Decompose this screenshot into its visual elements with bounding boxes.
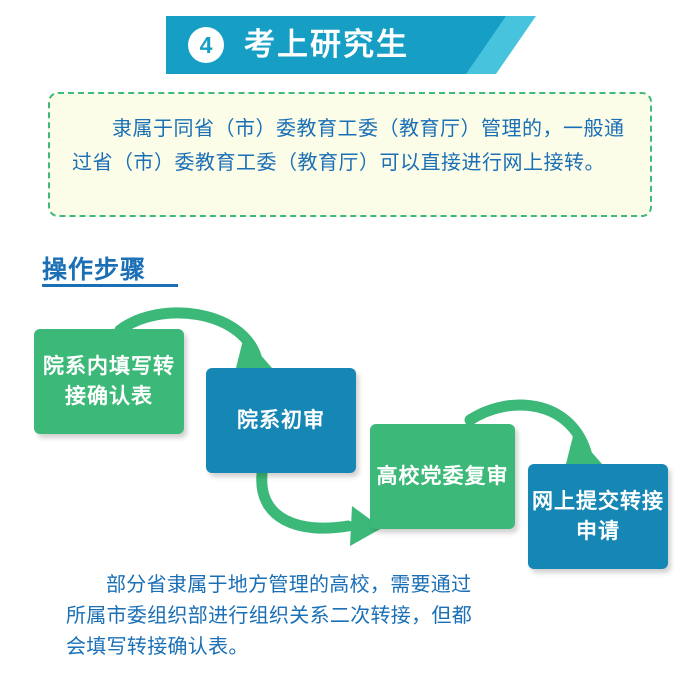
note-text: 隶属于同省（市）委教育工委（教育厅）管理的，一般通过省（市）委教育工委（教育厅）… [72,112,632,180]
flow-step-2[interactable]: 院系初审 [206,368,356,473]
section-title-underline [42,284,178,287]
flow-step-4[interactable]: 网上提交转接申请 [528,464,668,569]
page-title: 考上研究生 [244,25,409,65]
section-header-banner: 4 考上研究生 [166,16,536,74]
flow-step-1[interactable]: 院系内填写转接确认表 [34,329,184,434]
section-title: 操作步骤 [42,250,146,286]
section-number-badge: 4 [188,27,224,63]
infographic-page: 4 考上研究生 隶属于同省（市）委教育工委（教育厅）管理的，一般通过省（市）委教… [0,0,700,680]
note-box: 隶属于同省（市）委教育工委（教育厅）管理的，一般通过省（市）委教育工委（教育厅）… [48,92,652,217]
flow-step-3[interactable]: 高校党委复审 [370,424,515,529]
footer-note: 部分省隶属于地方管理的高校，需要通过所属市委组织部进行组织关系二次转接，但都会填… [66,570,486,663]
